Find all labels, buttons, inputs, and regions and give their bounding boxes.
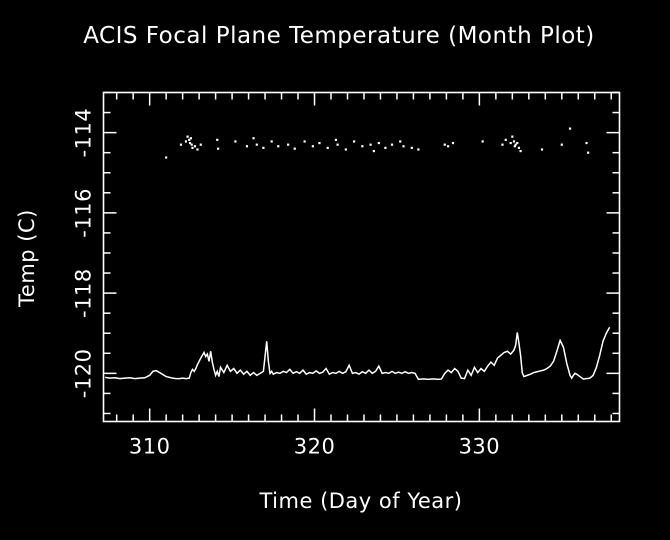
- scatter-point: [447, 145, 449, 147]
- scatter-point: [391, 144, 393, 146]
- scatter-point: [501, 144, 503, 146]
- scatter-point: [191, 144, 193, 146]
- scatter-point: [180, 144, 182, 146]
- scatter-point: [345, 148, 347, 150]
- scatter-point: [327, 147, 329, 149]
- plot-canvas: ACIS Focal Plane Temperature (Month Plot…: [0, 0, 670, 540]
- figure-background: [0, 0, 670, 540]
- scatter-point: [287, 144, 289, 146]
- scatter-point: [190, 137, 192, 139]
- scatter-point: [277, 145, 279, 147]
- scatter-point: [361, 145, 363, 147]
- scatter-point: [373, 150, 375, 152]
- scatter-point: [353, 140, 355, 142]
- scatter-point: [513, 140, 515, 142]
- scatter-point: [252, 137, 254, 139]
- y-tick-label: -116: [72, 188, 96, 238]
- scatter-point: [518, 147, 520, 149]
- scatter-point: [369, 144, 371, 146]
- scatter-point: [335, 139, 337, 141]
- scatter-point: [217, 148, 219, 150]
- scatter-point: [246, 145, 248, 147]
- scatter-point: [561, 144, 563, 146]
- x-axis-label: Time (Day of Year): [259, 489, 463, 513]
- scatter-point: [312, 145, 314, 147]
- x-tick-label: 330: [459, 435, 501, 459]
- scatter-point: [569, 128, 571, 130]
- scatter-point: [444, 144, 446, 146]
- scatter-point: [510, 142, 512, 144]
- scatter-point: [191, 147, 193, 149]
- scatter-point: [399, 140, 401, 142]
- scatter-point: [505, 139, 507, 141]
- scatter-point: [165, 156, 167, 158]
- scatter-point: [194, 145, 196, 147]
- scatter-point: [234, 140, 236, 142]
- plot-title: ACIS Focal Plane Temperature (Month Plot…: [83, 23, 595, 49]
- x-tick-label: 320: [294, 435, 336, 459]
- scatter-point: [294, 148, 296, 150]
- scatter-point: [185, 140, 187, 142]
- scatter-point: [417, 148, 419, 150]
- scatter-point: [511, 136, 513, 138]
- y-axis-label: Temp (C): [15, 209, 39, 308]
- scatter-point: [200, 144, 202, 146]
- scatter-point: [585, 142, 587, 144]
- y-tick-label: -114: [72, 108, 96, 158]
- scatter-point: [452, 142, 454, 144]
- scatter-point: [262, 147, 264, 149]
- scatter-point: [337, 144, 339, 146]
- scatter-point: [318, 142, 320, 144]
- scatter-point: [378, 142, 380, 144]
- scatter-point: [587, 152, 589, 154]
- scatter-point: [256, 144, 258, 146]
- scatter-point: [519, 150, 521, 152]
- x-tick-label: 310: [129, 435, 171, 459]
- scatter-point: [271, 140, 273, 142]
- scatter-point: [186, 136, 188, 138]
- scatter-point: [516, 142, 518, 144]
- scatter-point: [196, 148, 198, 150]
- scatter-point: [482, 140, 484, 142]
- scatter-point: [304, 140, 306, 142]
- y-tick-label: -118: [72, 268, 96, 318]
- scatter-point: [402, 145, 404, 147]
- scatter-point: [541, 148, 543, 150]
- scatter-point: [216, 139, 218, 141]
- scatter-point: [411, 147, 413, 149]
- plot-figure: ACIS Focal Plane Temperature (Month Plot…: [0, 0, 670, 540]
- scatter-point: [384, 147, 386, 149]
- y-tick-label: -120: [72, 349, 96, 399]
